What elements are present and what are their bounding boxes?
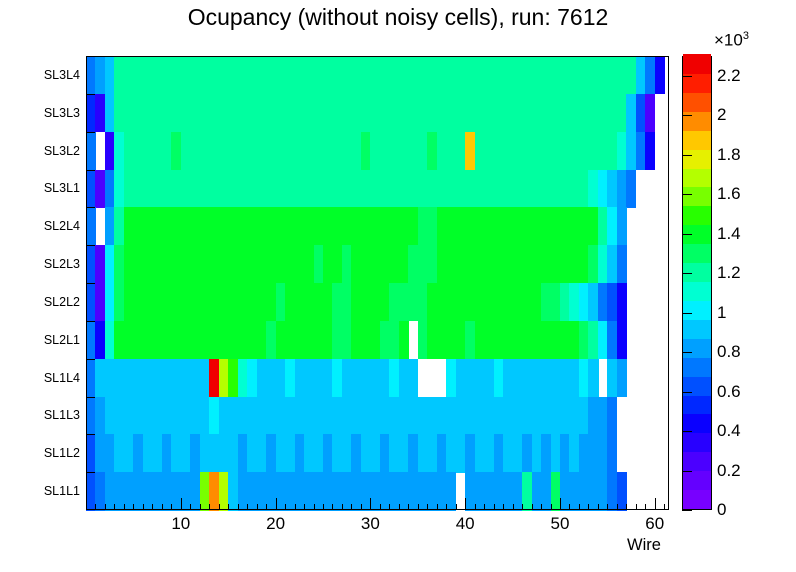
y-axis-tick xyxy=(86,359,95,360)
x-axis-major-tick xyxy=(560,498,561,510)
x-axis-minor-tick xyxy=(124,504,125,510)
color-scale-band xyxy=(683,319,711,339)
heatmap-cell xyxy=(617,283,627,321)
y-axis-label: SL1L2 xyxy=(26,446,80,460)
x-axis-minor-tick xyxy=(143,504,144,510)
y-axis-label: SL3L1 xyxy=(26,181,80,195)
x-axis-minor-tick xyxy=(427,504,428,510)
color-scale-tick-label: 0 xyxy=(717,500,726,520)
x-axis-minor-tick xyxy=(238,504,239,510)
x-axis-minor-tick xyxy=(494,504,495,510)
y-axis-tick xyxy=(86,321,95,322)
x-axis-minor-tick xyxy=(513,504,514,510)
heatmap-cell xyxy=(645,94,655,132)
color-scale-band xyxy=(683,111,711,131)
color-scale-band xyxy=(683,452,711,472)
exponent-power: 3 xyxy=(743,30,749,42)
heatmap-cell xyxy=(626,170,636,208)
x-axis-minor-tick xyxy=(626,504,627,510)
color-scale-tick xyxy=(682,115,692,116)
y-axis-tick xyxy=(86,132,95,133)
x-axis-major-tick xyxy=(465,498,466,510)
color-scale-band xyxy=(683,471,711,491)
color-scale-tick xyxy=(682,273,692,274)
x-axis-minor-tick xyxy=(105,504,106,510)
color-scale-tick-label: 1 xyxy=(717,303,726,323)
x-axis-minor-tick xyxy=(285,504,286,510)
color-scale-tick xyxy=(682,431,692,432)
heatmap-plot-area[interactable] xyxy=(86,56,669,510)
x-axis-minor-tick xyxy=(171,504,172,510)
x-axis-minor-tick xyxy=(380,504,381,510)
x-axis-minor-tick xyxy=(522,504,523,510)
color-scale-tick xyxy=(682,234,692,235)
color-scale-band xyxy=(683,357,711,377)
x-axis-minor-tick xyxy=(408,504,409,510)
x-axis-minor-tick xyxy=(266,504,267,510)
color-scale-tick-label: 0.4 xyxy=(717,421,741,441)
x-axis-minor-tick xyxy=(257,504,258,510)
x-axis-minor-tick xyxy=(95,504,96,510)
x-axis-minor-tick xyxy=(607,504,608,510)
color-scale-tick xyxy=(682,155,692,156)
x-axis-major-tick xyxy=(370,498,371,510)
x-axis-minor-tick xyxy=(579,504,580,510)
x-axis-minor-tick xyxy=(503,504,504,510)
x-axis-minor-tick xyxy=(295,504,296,510)
color-scale-tick xyxy=(682,194,692,195)
y-axis-tick xyxy=(86,94,95,95)
y-axis-tick xyxy=(86,283,95,284)
heatmap-cell xyxy=(655,56,665,94)
color-scale-band xyxy=(683,489,711,509)
color-scale-tick-label: 2 xyxy=(717,105,726,125)
x-axis-minor-tick xyxy=(200,504,201,510)
x-axis-minor-tick xyxy=(304,504,305,510)
color-scale-tick xyxy=(682,313,692,314)
x-axis-minor-tick xyxy=(351,504,352,510)
x-axis-minor-tick xyxy=(456,504,457,510)
y-axis-tick xyxy=(86,245,95,246)
color-scale-tick xyxy=(682,392,692,393)
color-scale-tick-label: 0.8 xyxy=(717,342,741,362)
x-axis-minor-tick xyxy=(551,504,552,510)
x-axis-minor-tick xyxy=(598,504,599,510)
y-axis-label: SL2L2 xyxy=(26,295,80,309)
x-axis-major-tick xyxy=(181,498,182,510)
root-canvas: Ocupancy (without noisy cells), run: 761… xyxy=(0,0,796,572)
color-scale-band xyxy=(683,130,711,150)
color-scale-tick-label: 1.4 xyxy=(717,224,741,244)
x-axis-major-tick xyxy=(655,498,656,510)
x-axis-minor-tick xyxy=(399,504,400,510)
x-axis-minor-tick xyxy=(209,504,210,510)
color-scale-band xyxy=(683,433,711,453)
color-scale-band xyxy=(683,206,711,226)
color-scale-band xyxy=(683,281,711,301)
x-axis-minor-tick xyxy=(162,504,163,510)
color-scale-tick xyxy=(682,471,692,472)
color-scale-band xyxy=(683,300,711,320)
heatmap-cells xyxy=(86,56,669,510)
x-axis-minor-tick xyxy=(332,504,333,510)
y-axis-label: SL2L4 xyxy=(26,219,80,233)
x-axis-minor-tick xyxy=(342,504,343,510)
color-scale-bar[interactable] xyxy=(682,56,712,510)
heatmap-cell xyxy=(588,359,598,397)
color-scale-tick-label: 0.6 xyxy=(717,382,741,402)
color-scale-band xyxy=(683,54,711,74)
color-scale-tick-label: 1.2 xyxy=(717,263,741,283)
x-axis-minor-tick xyxy=(418,504,419,510)
x-axis-minor-tick xyxy=(446,504,447,510)
color-scale-tick-label: 0.2 xyxy=(717,461,741,481)
y-axis-labels: SL3L4SL3L3SL3L2SL3L1SL2L4SL2L3SL2L2SL2L1… xyxy=(24,0,80,572)
x-axis-minor-tick xyxy=(437,504,438,510)
exponent-base: ×10 xyxy=(714,31,743,50)
y-axis-tick xyxy=(86,397,95,398)
x-axis-minor-tick xyxy=(664,504,665,510)
heatmap-cell xyxy=(399,321,409,359)
x-axis-minor-tick xyxy=(323,504,324,510)
x-axis-minor-tick xyxy=(569,504,570,510)
heatmap-cell xyxy=(617,359,627,397)
x-axis-tick-label: 40 xyxy=(456,514,475,534)
y-axis-tick xyxy=(86,472,95,473)
x-axis-title: Wire xyxy=(627,536,661,555)
x-axis-minor-tick xyxy=(361,504,362,510)
y-axis-label: SL2L1 xyxy=(26,333,80,347)
y-axis-tick xyxy=(86,207,95,208)
color-scale-band xyxy=(683,168,711,188)
x-axis-minor-tick xyxy=(133,504,134,510)
x-axis-minor-tick xyxy=(114,504,115,510)
y-axis-label: SL1L3 xyxy=(26,408,80,422)
page-title: Ocupancy (without noisy cells), run: 761… xyxy=(0,4,796,31)
color-scale-band xyxy=(683,187,711,207)
color-scale-band xyxy=(683,376,711,396)
y-axis-label: SL1L4 xyxy=(26,371,80,385)
x-axis-minor-tick xyxy=(636,504,637,510)
x-axis-tick-label: 10 xyxy=(171,514,190,534)
heatmap-cell xyxy=(86,207,96,245)
x-axis-minor-tick xyxy=(617,504,618,510)
y-axis-label: SL3L2 xyxy=(26,144,80,158)
x-axis-minor-tick xyxy=(541,504,542,510)
color-scale-band xyxy=(683,92,711,112)
y-axis-label: SL3L3 xyxy=(26,106,80,120)
x-axis-minor-tick xyxy=(219,504,220,510)
x-axis-minor-tick xyxy=(152,504,153,510)
heatmap-cell xyxy=(617,321,627,359)
heatmap-cell xyxy=(607,397,617,435)
color-scale-tick xyxy=(682,352,692,353)
x-axis-minor-tick xyxy=(247,504,248,510)
color-scale-band xyxy=(683,338,711,358)
color-scale-band xyxy=(683,149,711,169)
color-scale-band xyxy=(683,244,711,264)
x-axis-minor-tick xyxy=(190,504,191,510)
x-axis-minor-tick xyxy=(484,504,485,510)
x-axis-minor-tick xyxy=(314,504,315,510)
y-axis-label: SL3L4 xyxy=(26,68,80,82)
x-axis-tick-label: 60 xyxy=(645,514,664,534)
y-axis-label: SL2L3 xyxy=(26,257,80,271)
x-axis-minor-tick xyxy=(475,504,476,510)
x-axis-tick-label: 20 xyxy=(266,514,285,534)
x-axis-minor-tick xyxy=(228,504,229,510)
x-axis-tick-label: 50 xyxy=(551,514,570,534)
heatmap-cell xyxy=(408,359,418,397)
heatmap-cell xyxy=(86,132,96,170)
heatmap-cell xyxy=(617,245,627,283)
x-axis-tick-label: 30 xyxy=(361,514,380,534)
color-scale-tick xyxy=(682,76,692,77)
y-axis-tick xyxy=(86,434,95,435)
heatmap-cell xyxy=(645,132,655,170)
color-scale-tick-label: 2.2 xyxy=(717,66,741,86)
color-scale-tick-label: 1.8 xyxy=(717,145,741,165)
y-axis-label: SL1L1 xyxy=(26,484,80,498)
color-scale-tick xyxy=(682,510,692,511)
heatmap-cell xyxy=(617,207,627,245)
color-scale-band xyxy=(683,395,711,415)
x-axis-major-tick xyxy=(276,498,277,510)
x-axis-minor-tick xyxy=(645,504,646,510)
y-axis-tick xyxy=(86,170,95,171)
x-axis-minor-tick xyxy=(588,504,589,510)
color-scale-exponent: ×103 xyxy=(714,30,749,51)
heatmap-cell xyxy=(607,434,617,472)
color-scale-tick-label: 1.6 xyxy=(717,184,741,204)
x-axis-minor-tick xyxy=(389,504,390,510)
x-axis-minor-tick xyxy=(532,504,533,510)
